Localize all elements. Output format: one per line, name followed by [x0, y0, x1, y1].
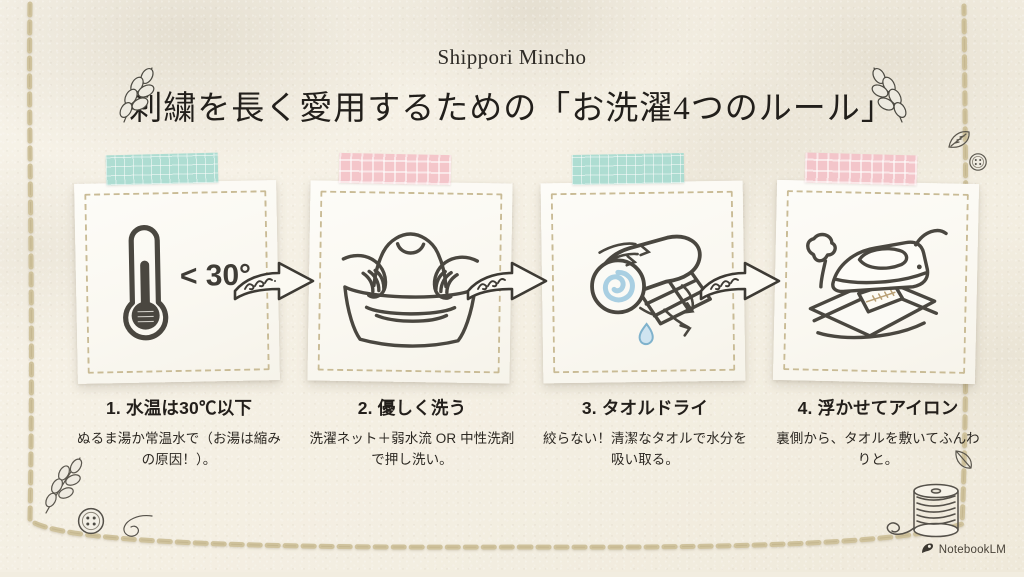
notebooklm-logo-icon [921, 542, 934, 558]
leaf-sprig-left-title [112, 64, 164, 131]
button-icon-bottom-left [76, 506, 106, 541]
thread-curl-bottom-left [108, 512, 154, 551]
caption-title-1: 1. 水温は30℃以下 [62, 398, 296, 420]
notebooklm-watermark: NotebookLM [921, 542, 1006, 558]
caption-body-1: ぬるま湯か常温水で（お湯は縮みの原因！）。 [62, 429, 296, 471]
caption-1: 1. 水温は30℃以下 ぬるま湯か常温水で（お湯は縮みの原因！）。 [62, 398, 296, 471]
washi-tape-3 [572, 153, 685, 185]
arrow-step-2-to-3 [464, 255, 550, 309]
leaf-icon-bottom-right [952, 448, 976, 477]
caption-3: 3. タオルドライ 絞らない！清潔なタオルで水分を吸い取る。 [528, 398, 762, 471]
washi-tape-1 [106, 153, 219, 186]
caption-title-4: 4. 浮かせてアイロン [761, 398, 995, 420]
steam-iron-icon [773, 180, 979, 384]
caption-title-2: 2. 優しく洗う [295, 398, 529, 420]
caption-body-3: 絞らない！清潔なタオルで水分を吸い取る。 [528, 429, 762, 471]
caption-body-2: 洗濯ネット＋弱水流 OR 中性洗剤で押し洗い。 [295, 429, 529, 471]
leaf-sprig-right-title [862, 64, 914, 131]
washi-tape-2 [339, 153, 452, 185]
watermark-label: NotebookLM [939, 544, 1006, 556]
arrow-step-1-to-2 [231, 255, 317, 309]
caption-title-3: 3. タオルドライ [528, 398, 762, 420]
button-icon-top-right [968, 152, 988, 177]
caption-2: 2. 優しく洗う 洗濯ネット＋弱水流 OR 中性洗剤で押し洗い。 [295, 398, 529, 471]
step-card-4[interactable] [761, 168, 995, 398]
washi-tape-4 [805, 153, 918, 186]
arrow-step-3-to-4 [697, 255, 783, 309]
infographic-canvas: Shippori Mincho 刺繍を長く愛用するための「お洗濯4つのルール」 [0, 0, 1024, 572]
